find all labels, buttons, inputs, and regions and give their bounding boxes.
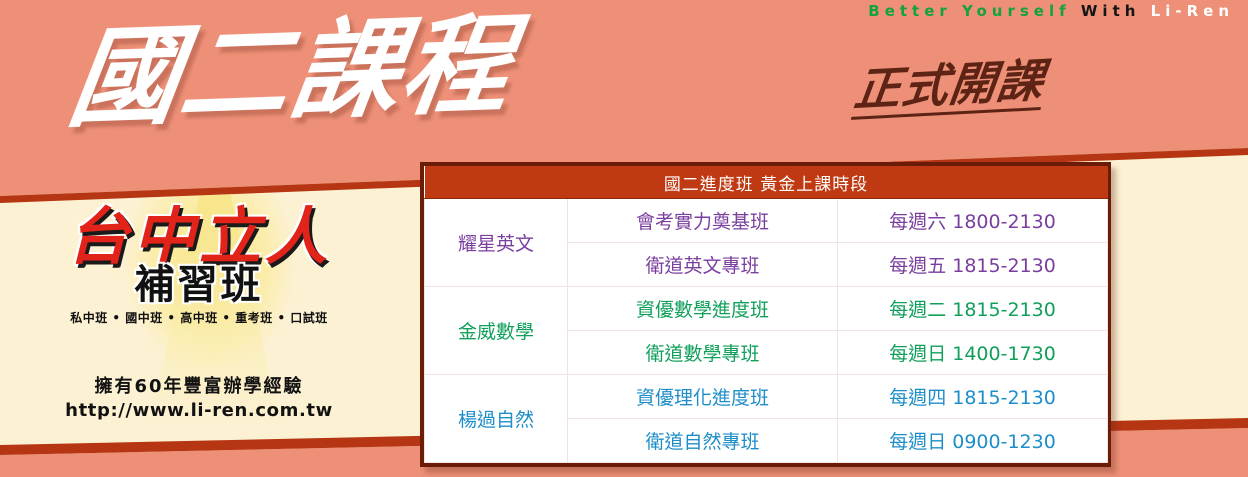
website-url[interactable]: http://www.li-ren.com.tw [34,400,364,421]
table-row: 耀星英文會考實力奠基班每週六 1800-2130 [425,199,1108,243]
schedule-table: 國二進度班 黃金上課時段 耀星英文會考實力奠基班每週六 1800-2130衛道英… [424,166,1108,463]
schedule-header-title: 國二進度班 黃金上課時段 [425,166,1108,199]
tagline-part-1: Better Yourself [868,2,1070,20]
class-time-cell: 每週二 1815-2130 [838,287,1108,331]
headline-title: 國二課程 [63,10,521,133]
tagline-part-3: Li-Ren [1151,2,1234,20]
subject-cell: 金威數學 [425,287,568,375]
promo-banner: Better Yourself With Li-Ren 國二課程 正式開課 台中… [0,0,1248,477]
class-time-cell: 每週日 1400-1730 [838,331,1108,375]
contact-info: 擁有60年豐富辦學經驗 http://www.li-ren.com.tw [34,372,364,421]
subject-cell: 楊過自然 [425,375,568,463]
schedule-header-row: 國二進度班 黃金上課時段 [425,166,1108,199]
class-name-cell: 衛道自然專班 [568,419,838,463]
tagline-part-2: With [1081,2,1141,20]
logo-main-text: 台中立人 [34,205,364,268]
class-time-cell: 每週六 1800-2130 [838,199,1108,243]
class-time-cell: 每週四 1815-2130 [838,375,1108,419]
brand-logo: 台中立人 補習班 私中班 • 國中班 • 高中班 • 重考班 • 口試班 [34,205,364,326]
logo-program-tags: 私中班 • 國中班 • 高中班 • 重考班 • 口試班 [34,309,364,326]
class-name-cell: 衛道數學專班 [568,331,838,375]
experience-text: 擁有60年豐富辦學經驗 [34,372,364,398]
subject-cell: 耀星英文 [425,199,568,287]
class-name-cell: 資優數學進度班 [568,287,838,331]
class-time-cell: 每週五 1815-2130 [838,243,1108,287]
tagline: Better Yourself With Li-Ren [868,2,1234,20]
table-row: 楊過自然資優理化進度班每週四 1815-2130 [425,375,1108,419]
schedule-body: 耀星英文會考實力奠基班每週六 1800-2130衛道英文專班每週五 1815-2… [425,199,1108,463]
class-name-cell: 資優理化進度班 [568,375,838,419]
table-row: 金威數學資優數學進度班每週二 1815-2130 [425,287,1108,331]
class-name-cell: 衛道英文專班 [568,243,838,287]
schedule-table-container: 國二進度班 黃金上課時段 耀星英文會考實力奠基班每週六 1800-2130衛道英… [420,162,1111,467]
headline-subtitle: 正式開課 [851,57,1047,120]
class-time-cell: 每週日 0900-1230 [838,419,1108,463]
class-name-cell: 會考實力奠基班 [568,199,838,243]
